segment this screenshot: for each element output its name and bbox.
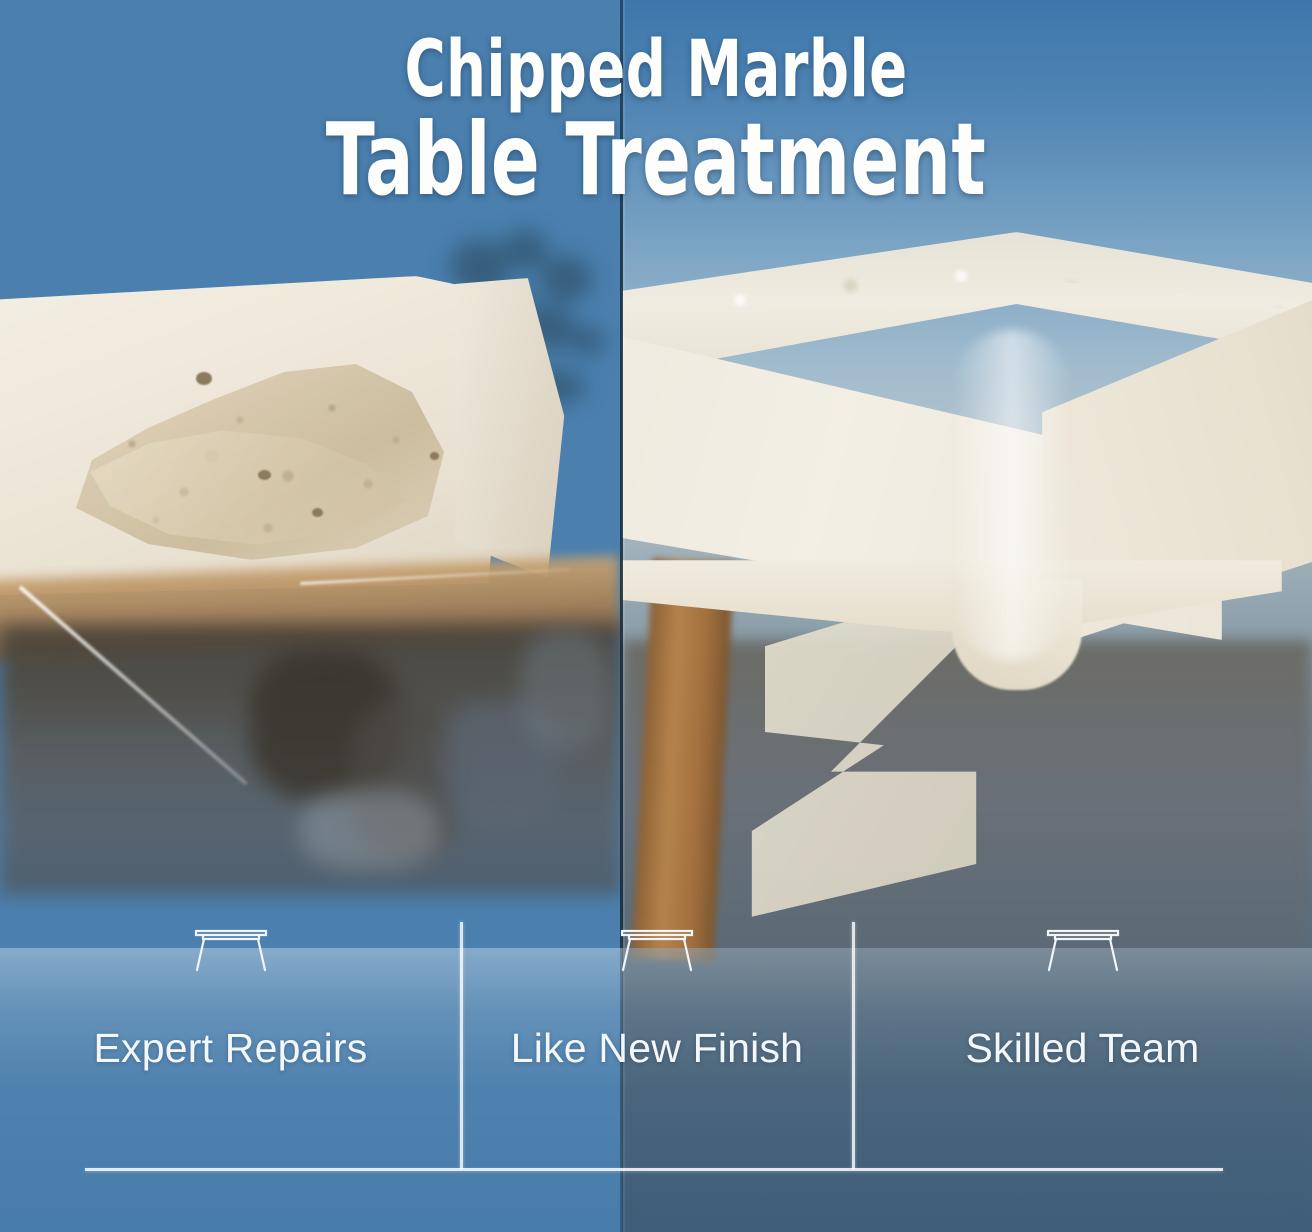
feature-label: Expert Repairs [94,1024,368,1072]
marble-pit [258,470,271,480]
marble-pit [430,452,439,460]
page-title: Chipped Marble Table Treatment [0,28,1312,212]
feature-item-skilled-team[interactable]: Skilled Team [853,900,1312,1232]
marble-corner-gloss [952,330,1072,660]
poster-canvas: Chipped Marble Table Treatment Expert Re… [0,0,1312,1232]
title-line-1: Chipped Marble [131,28,1181,112]
feature-divider-1 [460,922,463,1169]
marble-pit [312,508,323,517]
marble-pit [196,372,212,385]
table-icon [619,922,695,974]
feature-label: Skilled Team [965,1024,1199,1072]
title-line-2: Table Treatment [131,108,1181,212]
background-blur-blob [300,790,440,870]
feature-label: Like New Finish [511,1024,803,1072]
table-icon [193,922,269,974]
feature-divider-2 [852,922,855,1169]
feature-item-like-new-finish[interactable]: Like New Finish [461,900,853,1232]
feature-bar: Expert Repairs Like New Finish [0,900,1312,1232]
feature-baseline-rule [85,1168,1223,1171]
feature-item-expert-repairs[interactable]: Expert Repairs [0,900,461,1232]
background-blur-blob [520,630,610,750]
table-icon [1045,922,1121,974]
